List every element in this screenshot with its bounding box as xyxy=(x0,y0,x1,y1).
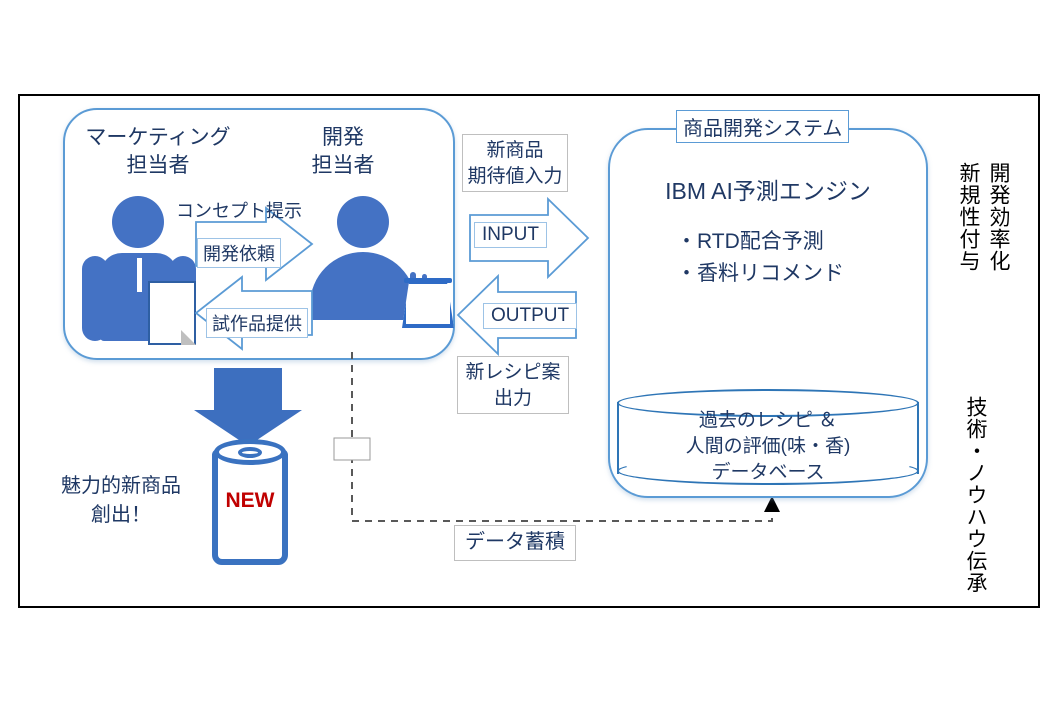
database-cylinder-icon: 過去のレシピ ＆ 人間の評価(味・香) データベース xyxy=(617,389,919,485)
ai-engine-feature-list: ・RTD配合予測 ・香料リコメンド xyxy=(676,226,844,290)
database-label: 過去のレシピ ＆ 人間の評価(味・香) データベース xyxy=(617,408,919,486)
flask-body-shape xyxy=(402,280,454,328)
feature-item-rtd: ・RTD配合予測 xyxy=(676,226,844,258)
attractive-label-line2: 創出！ xyxy=(46,501,196,530)
person-head-shape xyxy=(337,196,389,248)
attractive-label-line1: 魅力的新商品 xyxy=(46,472,196,501)
marketing-label-line1: マーケティング xyxy=(68,124,248,152)
new-product-expectation-input-box: 新商品 期待値入力 xyxy=(462,134,568,192)
person-neckline-shape xyxy=(137,258,142,292)
flask-icon xyxy=(402,272,454,328)
flask-rim-shape xyxy=(404,278,452,283)
can-pull-tab xyxy=(238,447,262,458)
concept-presentation-label: コンセプト提示 xyxy=(176,197,302,223)
side-label-novelty: 新規性付与 xyxy=(955,162,981,272)
expect-box-line2: 期待値入力 xyxy=(463,164,567,190)
side-label-development-efficiency: 開発効率化 xyxy=(985,162,1011,272)
marketing-person-label: マーケティング 担当者 xyxy=(68,124,248,180)
side-label-knowhow-transfer: 技術・ノウハウ伝承 xyxy=(962,396,988,594)
person-body-dome-shape xyxy=(310,252,416,320)
dev-person-label: 開発 担当者 xyxy=(283,124,403,180)
database-label-line1: 過去のレシピ ＆ xyxy=(617,408,919,434)
document-fold-corner xyxy=(181,330,196,345)
marketing-label-line2: 担当者 xyxy=(68,152,248,180)
new-product-can-icon: NEW xyxy=(212,437,288,565)
input-label: INPUT xyxy=(474,222,547,248)
expect-box-line1: 新商品 xyxy=(463,138,567,164)
new-recipe-output-box: 新レシピ案 出力 xyxy=(457,356,569,414)
system-title-label: 商品開発システム xyxy=(676,110,849,143)
database-label-line2: 人間の評価(味・香) xyxy=(617,434,919,460)
data-accumulation-box: データ蓄積 xyxy=(454,525,576,561)
diagram-canvas: マーケティング 担当者 開発 担当者 xyxy=(0,0,1060,702)
can-new-text: NEW xyxy=(212,489,288,513)
dev-label-line1: 開発 xyxy=(283,124,403,152)
development-request-label: 開発依頼 xyxy=(197,238,281,268)
person-head-shape xyxy=(112,196,164,248)
database-label-line3: データベース xyxy=(617,460,919,486)
ai-engine-title: IBM AI予測エンジン xyxy=(608,172,928,206)
document-icon xyxy=(148,281,196,345)
output-label: OUTPUT xyxy=(483,303,577,329)
prototype-supply-label: 試作品提供 xyxy=(206,308,308,338)
attractive-product-label: 魅力的新商品 創出！ xyxy=(46,472,196,530)
recipe-box-line1: 新レシピ案 xyxy=(458,360,568,386)
feature-item-fragrance: ・香料リコメンド xyxy=(676,258,844,290)
recipe-box-line2: 出力 xyxy=(458,386,568,412)
dev-label-line2: 担当者 xyxy=(283,152,403,180)
